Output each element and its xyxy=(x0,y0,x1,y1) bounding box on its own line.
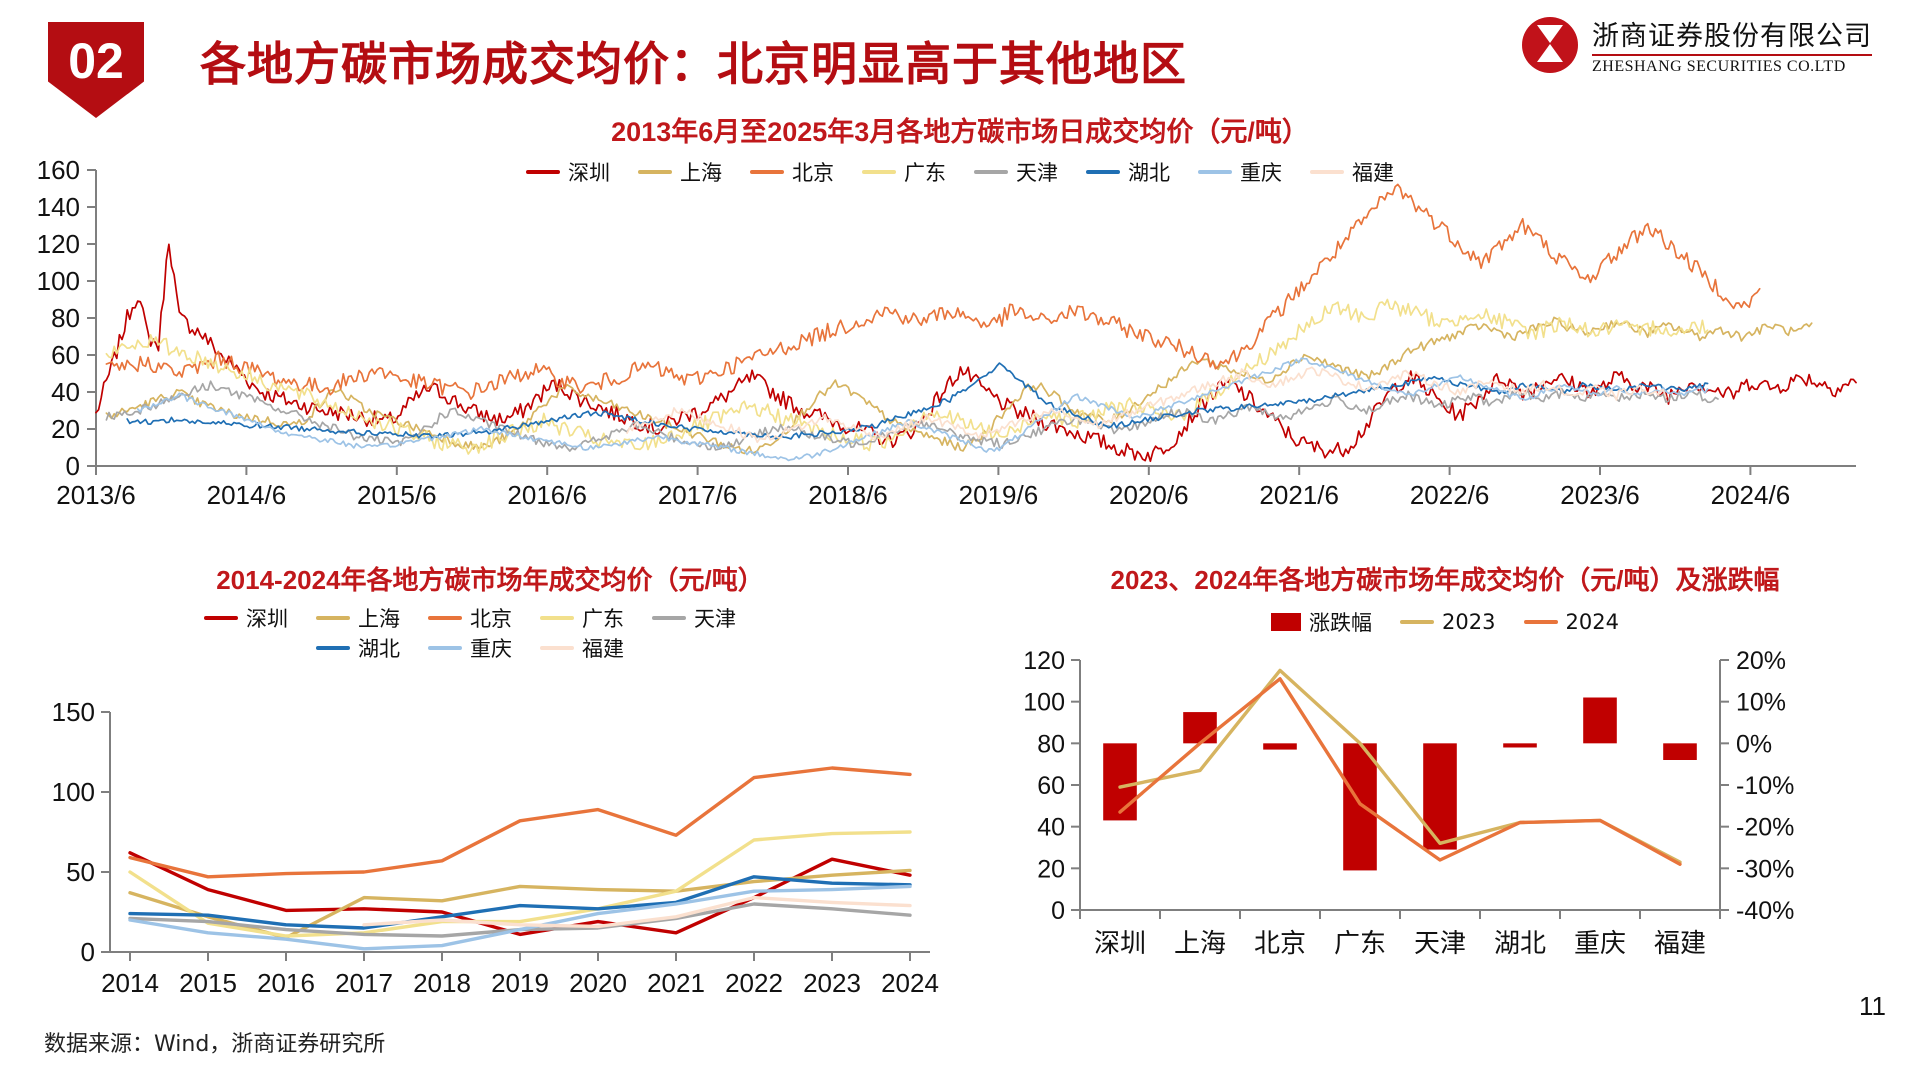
legend-item-涨跌幅: 涨跌幅 xyxy=(1271,607,1372,637)
x-tick: 2019/6 xyxy=(959,480,1039,510)
x-tick: 2021/6 xyxy=(1259,480,1339,510)
legend-label: 涨跌幅 xyxy=(1309,607,1372,637)
y-tick-right: -30% xyxy=(1736,855,1794,883)
company-logo: 浙商证券股份有限公司 ZHESHANG SECURITIES CO.LTD xyxy=(1522,14,1872,76)
x-tick: 2016/6 xyxy=(507,480,587,510)
x-tick: 福建 xyxy=(1654,929,1706,959)
x-tick: 2022/6 xyxy=(1410,480,1490,510)
plot-area-daily: 0204060801001201401602013/62014/62015/62… xyxy=(96,170,1856,466)
legend-label: 北京 xyxy=(470,603,512,633)
x-tick: 天津 xyxy=(1414,929,1466,959)
x-tick: 北京 xyxy=(1254,929,1306,959)
y-tick-left: 80 xyxy=(1037,730,1065,758)
legend-swatch-line xyxy=(204,616,238,620)
y-tick-right: 0% xyxy=(1736,730,1772,758)
y-tick: 40 xyxy=(51,377,80,407)
legend-label: 天津 xyxy=(694,603,736,633)
y-tick-left: 120 xyxy=(1023,647,1065,675)
y-tick: 60 xyxy=(51,340,80,370)
bar-福建 xyxy=(1663,743,1697,760)
logo-divider xyxy=(1592,54,1872,56)
section-badge: 02 xyxy=(48,22,144,118)
legend-label: 上海 xyxy=(358,603,400,633)
y-tick-left: 20 xyxy=(1037,855,1065,883)
y-tick-right: 10% xyxy=(1736,689,1786,717)
y-tick-left: 0 xyxy=(1051,897,1065,925)
chart-title-annual: 2014-2024年各地方碳市场年成交均价（元/吨） xyxy=(10,560,970,597)
x-tick: 2019 xyxy=(491,968,549,998)
legend-item-湖北: 湖北 xyxy=(316,633,400,663)
legend-swatch-line xyxy=(316,646,350,650)
bar-上海 xyxy=(1183,712,1217,743)
chart-yoy-compare: 2023、2024年各地方碳市场年成交均价（元/吨）及涨跌幅 涨跌幅202320… xyxy=(970,560,1920,1020)
x-tick: 2017 xyxy=(335,968,393,998)
plot-area-yoy: 020406080100120-40%-30%-20%-10%0%10%20%深… xyxy=(1080,660,1720,910)
legend-label: 深圳 xyxy=(246,603,288,633)
legend-label: 湖北 xyxy=(358,633,400,663)
y-tick: 0 xyxy=(81,937,95,967)
bar-深圳 xyxy=(1103,743,1137,820)
x-tick: 2017/6 xyxy=(658,480,738,510)
x-tick: 广东 xyxy=(1334,929,1386,959)
legend-item-福建: 福建 xyxy=(540,633,624,663)
logo-text: 浙商证券股份有限公司 ZHESHANG SECURITIES CO.LTD xyxy=(1592,14,1872,76)
legend-swatch-line xyxy=(316,616,350,620)
legend-label: 重庆 xyxy=(470,633,512,663)
bar-重庆 xyxy=(1583,698,1617,744)
x-tick: 2016 xyxy=(257,968,315,998)
section-number: 02 xyxy=(68,22,124,86)
legend-item-上海: 上海 xyxy=(316,603,400,633)
y-tick: 80 xyxy=(51,303,80,333)
bar-广东 xyxy=(1343,743,1377,870)
y-tick: 140 xyxy=(37,192,80,222)
legend-swatch-box xyxy=(1271,613,1301,631)
bar-湖北 xyxy=(1503,743,1537,747)
legend-label: 2023 xyxy=(1442,610,1495,634)
legend-item-重庆: 重庆 xyxy=(428,633,512,663)
slide: 02 各地方碳市场成交均价：北京明显高于其他地区 浙商证券股份有限公司 ZHES… xyxy=(0,0,1920,1080)
x-tick: 2021 xyxy=(647,968,705,998)
zheshang-logo-icon xyxy=(1522,17,1578,73)
x-tick: 2014 xyxy=(101,968,159,998)
page-title: 各地方碳市场成交均价：北京明显高于其他地区 xyxy=(200,28,1187,94)
x-tick: 湖北 xyxy=(1494,929,1546,959)
y-tick-right: -40% xyxy=(1736,897,1794,925)
series-line-天津 xyxy=(106,381,1718,451)
legend-item-广东: 广东 xyxy=(540,603,624,633)
legend-annual: 深圳上海北京广东天津湖北重庆福建 xyxy=(160,603,780,663)
legend-item-天津: 天津 xyxy=(652,603,736,633)
y-tick-right: -10% xyxy=(1736,772,1794,800)
legend-item-深圳: 深圳 xyxy=(204,603,288,633)
x-tick: 2023/6 xyxy=(1560,480,1640,510)
x-tick: 2013/6 xyxy=(56,480,136,510)
legend-item-北京: 北京 xyxy=(428,603,512,633)
x-tick: 2024 xyxy=(881,968,939,998)
series-line-北京 xyxy=(106,184,1759,399)
legend-item-2023: 2023 xyxy=(1400,610,1495,634)
x-tick: 2015/6 xyxy=(357,480,437,510)
plot-area-annual: 0501001502014201520162017201820192020202… xyxy=(110,712,930,952)
legend-swatch-line xyxy=(428,646,462,650)
y-tick: 50 xyxy=(66,857,95,887)
y-tick: 100 xyxy=(37,266,80,296)
series-line-北京 xyxy=(130,768,910,877)
y-tick-left: 40 xyxy=(1037,814,1065,842)
x-tick: 2014/6 xyxy=(207,480,287,510)
x-tick: 重庆 xyxy=(1574,929,1626,959)
legend-label: 福建 xyxy=(582,633,624,663)
legend-swatch-line xyxy=(1524,620,1558,624)
bar-天津 xyxy=(1423,743,1457,849)
x-tick: 2020 xyxy=(569,968,627,998)
legend-swatch-line xyxy=(540,616,574,620)
chart-title-yoy: 2023、2024年各地方碳市场年成交均价（元/吨）及涨跌幅 xyxy=(970,560,1920,597)
y-tick-right: -20% xyxy=(1736,814,1794,842)
bar-北京 xyxy=(1263,743,1297,749)
legend-swatch-line xyxy=(652,616,686,620)
x-tick: 2024/6 xyxy=(1711,480,1791,510)
y-tick: 100 xyxy=(52,777,95,807)
y-tick: 120 xyxy=(37,229,80,259)
logo-name-en: ZHESHANG SECURITIES CO.LTD xyxy=(1592,58,1846,76)
legend-item-2024: 2024 xyxy=(1524,610,1619,634)
y-tick: 0 xyxy=(66,451,80,481)
chart-title-daily: 2013年6月至2025年3月各地方碳市场日成交均价（元/吨） xyxy=(0,110,1920,149)
y-tick: 20 xyxy=(51,414,80,444)
x-tick: 2018/6 xyxy=(808,480,888,510)
logo-name-cn: 浙商证券股份有限公司 xyxy=(1592,14,1872,53)
y-tick: 150 xyxy=(52,697,95,727)
x-tick: 2020/6 xyxy=(1109,480,1189,510)
x-tick: 上海 xyxy=(1174,929,1226,959)
y-tick: 160 xyxy=(37,155,80,185)
legend-swatch-line xyxy=(1400,620,1434,624)
legend-swatch-line xyxy=(540,646,574,650)
source-note: 数据来源：Wind，浙商证券研究所 xyxy=(44,1026,385,1058)
page-number: 11 xyxy=(1859,991,1886,1022)
x-tick: 深圳 xyxy=(1094,929,1146,959)
chart-daily-prices: 2013年6月至2025年3月各地方碳市场日成交均价（元/吨） 深圳上海北京广东… xyxy=(0,108,1920,548)
legend-swatch-line xyxy=(428,616,462,620)
series-line-重庆 xyxy=(130,886,910,948)
x-tick: 2022 xyxy=(725,968,783,998)
chart-annual-prices: 2014-2024年各地方碳市场年成交均价（元/吨） 深圳上海北京广东天津湖北重… xyxy=(10,560,970,1020)
legend-label: 广东 xyxy=(582,603,624,633)
legend-label: 2024 xyxy=(1566,610,1619,634)
y-tick-left: 60 xyxy=(1037,772,1065,800)
x-tick: 2018 xyxy=(413,968,471,998)
series-line-上海 xyxy=(106,317,1811,453)
legend-yoy: 涨跌幅20232024 xyxy=(970,607,1920,637)
x-tick: 2015 xyxy=(179,968,237,998)
y-tick-right: 20% xyxy=(1736,647,1786,675)
y-tick-left: 100 xyxy=(1023,689,1065,717)
x-tick: 2023 xyxy=(803,968,861,998)
